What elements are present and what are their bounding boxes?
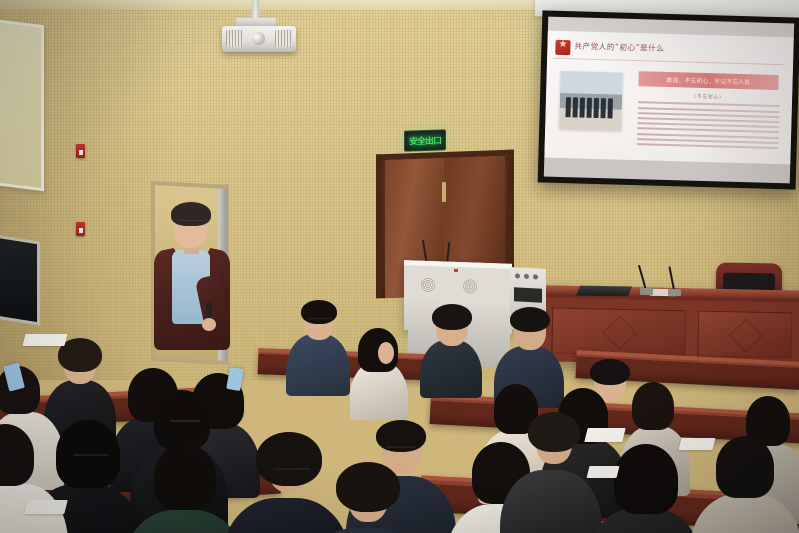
laptop[interactable] xyxy=(576,286,632,297)
audience-torso xyxy=(286,334,350,396)
slide-subtitle-text: （不忘初心） xyxy=(692,94,725,101)
fire-alarm-box[interactable] xyxy=(76,144,85,158)
projector-lens-icon xyxy=(252,32,265,45)
ceiling-projector-icon xyxy=(222,26,296,52)
handout-paper xyxy=(24,500,67,514)
rack-slot xyxy=(514,287,542,302)
slide-banner-text: 敢战，不忘初心、牢记不忘人民 xyxy=(666,76,750,86)
projection-screen: 共产党人的“初心”是什么 敢战，不忘初心、牢记不忘人民 （不忘初心） xyxy=(538,10,799,189)
handout-paper xyxy=(23,334,68,346)
audience-hair xyxy=(716,436,774,498)
eyeglasses-icon xyxy=(274,468,310,478)
slide-divider xyxy=(553,58,783,65)
party-emblem-icon xyxy=(555,40,570,55)
eyeglasses-icon xyxy=(308,318,332,324)
audience-hair xyxy=(528,412,580,452)
rack-knob-icon[interactable] xyxy=(515,273,520,278)
audience-torso xyxy=(420,340,482,398)
speaker-hand xyxy=(202,318,216,331)
status-led-icon xyxy=(454,269,458,272)
audience-torso xyxy=(222,498,350,533)
screen-surface: 共产党人的“初心”是什么 敢战，不忘初心、牢记不忘人民 （不忘初心） xyxy=(544,17,794,184)
eyeglasses-icon xyxy=(177,220,205,228)
audience-hair xyxy=(614,444,678,514)
microphone-base xyxy=(640,288,653,295)
rack-knob-icon[interactable] xyxy=(524,274,529,279)
handout-paper xyxy=(679,438,716,450)
exit-sign-label: 安全出口 xyxy=(409,133,441,147)
audience-hair xyxy=(510,307,550,332)
speaker-grille-icon xyxy=(420,277,436,294)
handout-paper xyxy=(587,466,620,478)
slide-body-text xyxy=(636,102,779,158)
wall-display-panel xyxy=(0,234,40,325)
projector-bracket xyxy=(236,18,276,26)
slide-subtitle: （不忘初心） xyxy=(638,92,778,103)
fire-alarm-box[interactable] xyxy=(76,222,85,236)
projector-vent xyxy=(275,30,292,47)
table-front-panel xyxy=(551,308,686,357)
wall-panel xyxy=(0,19,44,191)
audience-hair xyxy=(154,444,216,510)
audience-hair xyxy=(432,304,472,330)
eyeglasses-icon xyxy=(74,454,108,464)
audience-hair xyxy=(336,462,400,512)
microphone-base xyxy=(668,289,681,296)
handout-paper xyxy=(584,428,625,442)
speaker-grille-icon xyxy=(462,278,478,295)
speaker xyxy=(146,198,238,358)
rack-knob-icon[interactable] xyxy=(533,274,538,279)
audience-hair xyxy=(632,382,674,430)
slide-photo-figures xyxy=(565,98,613,119)
audience-face xyxy=(378,342,394,364)
door-handle-icon[interactable] xyxy=(442,182,446,202)
projector-vent xyxy=(226,30,243,47)
eyeglasses-icon xyxy=(386,446,416,455)
slide-banner: 敢战，不忘初心、牢记不忘人民 xyxy=(638,72,778,91)
slide-title: 共产党人的“初心”是什么 xyxy=(574,41,664,55)
table-front-panel xyxy=(697,311,792,359)
presentation-slide: 共产党人的“初心”是什么 敢战，不忘初心、牢记不忘人民 （不忘初心） xyxy=(544,31,793,164)
slide-photo xyxy=(559,71,623,131)
projector-mount-pole xyxy=(252,0,259,20)
emergency-exit-sign: 安全出口 xyxy=(404,129,446,151)
eyeglasses-icon xyxy=(170,420,200,429)
audience-hair xyxy=(590,359,630,385)
lecture-hall-photo: 安全出口 共产党人的“初心”是什么 敢战，不忘初心、牢记不忘人民 xyxy=(0,0,799,533)
